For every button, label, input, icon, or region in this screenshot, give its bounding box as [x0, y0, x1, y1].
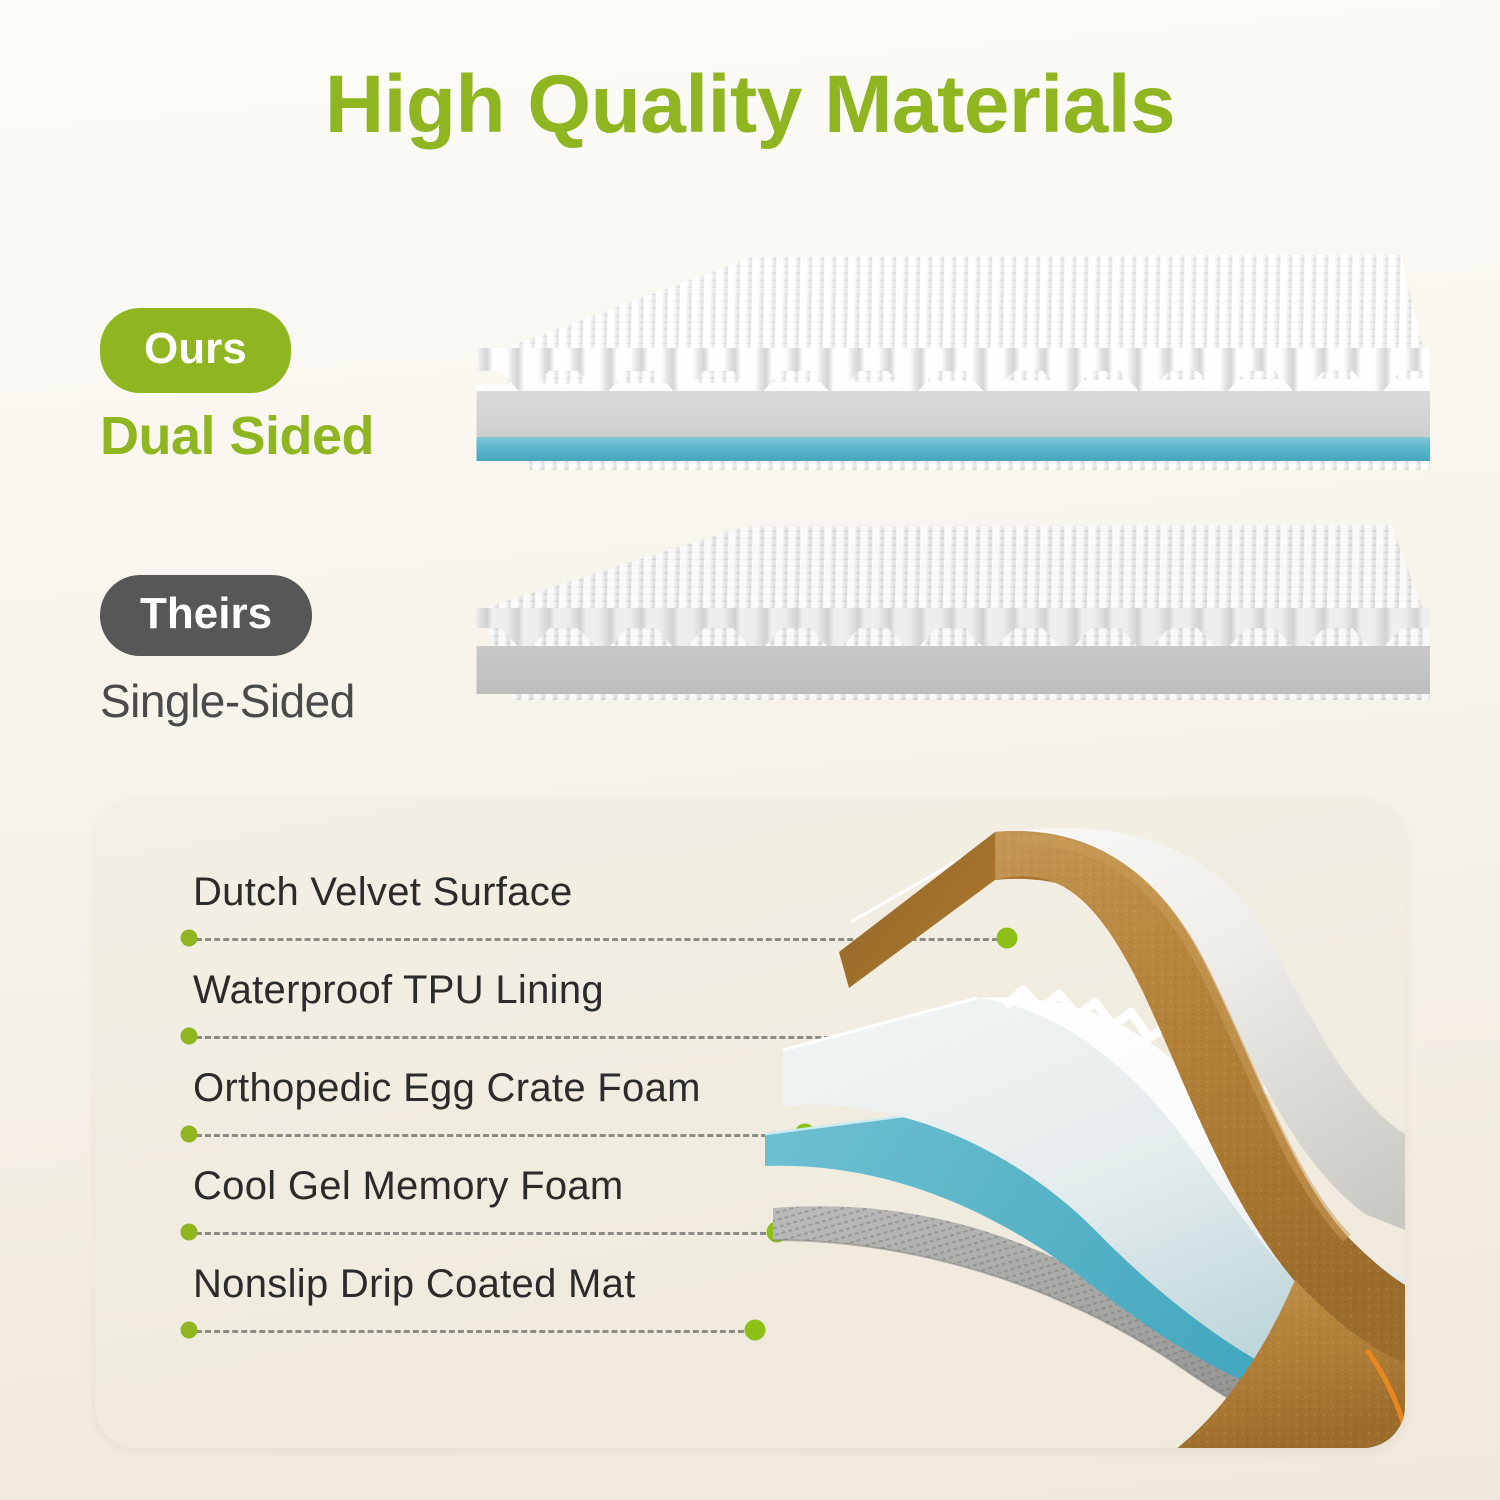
- ours-badge: Ours: [100, 308, 291, 393]
- feature-label: Dutch Velvet Surface: [193, 870, 573, 915]
- callout-line: [187, 1330, 753, 1333]
- ours-foam-body: [462, 391, 1430, 439]
- ours-caption: Dual Sided: [100, 409, 374, 463]
- page-title: High Quality Materials: [0, 58, 1500, 152]
- feature-label: Cool Gel Memory Foam: [193, 1164, 624, 1209]
- theirs-caption: Single-Sided: [100, 678, 355, 724]
- ours-mattress-image: [462, 248, 1430, 470]
- callout-line: [187, 1134, 803, 1137]
- infographic-root: High Quality Materials Ours Dual Sided T…: [0, 0, 1500, 1500]
- callout-dot-start: [181, 1028, 198, 1045]
- layered-product-illustration: [755, 810, 1405, 1448]
- callout-dot-start: [181, 1224, 198, 1241]
- feature-label: Waterproof TPU Lining: [193, 968, 604, 1013]
- materials-card: Dutch Velvet Surface Waterproof TPU Lini…: [95, 800, 1405, 1448]
- ours-gel-layer: [462, 437, 1430, 461]
- ours-label-group: Ours Dual Sided: [100, 308, 374, 463]
- callout-line: [187, 1232, 775, 1235]
- theirs-badge: Theirs: [100, 575, 312, 656]
- feature-label: Nonslip Drip Coated Mat: [193, 1262, 636, 1307]
- theirs-label-group: Theirs Single-Sided: [100, 575, 355, 724]
- callout-dot-start: [181, 1322, 198, 1339]
- callout-dot-start: [181, 1126, 198, 1143]
- theirs-mattress-image: [462, 518, 1430, 700]
- feature-label: Orthopedic Egg Crate Foam: [193, 1066, 701, 1111]
- callout-dot-start: [181, 930, 198, 947]
- theirs-foam-body: [462, 646, 1430, 694]
